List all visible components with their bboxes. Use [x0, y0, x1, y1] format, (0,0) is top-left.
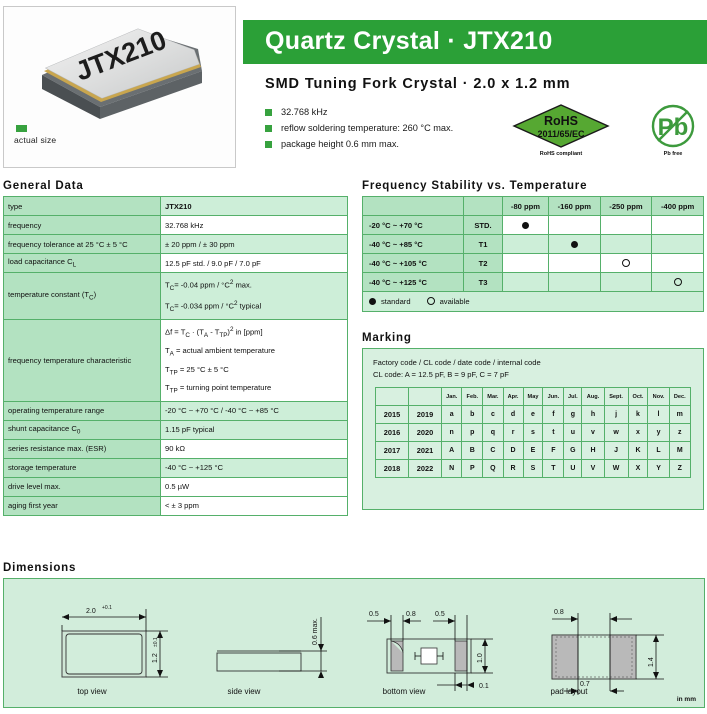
- marking-year: 2022: [409, 460, 442, 478]
- actual-size-label: actual size: [14, 135, 56, 145]
- general-data-key: frequency: [4, 216, 161, 235]
- marking-year: 2015: [376, 406, 409, 424]
- caption-bottom-view: bottom view: [344, 687, 464, 696]
- svg-text:1.0: 1.0: [477, 653, 484, 663]
- svg-text:0.5: 0.5: [369, 611, 379, 618]
- marking-code: h: [582, 406, 604, 424]
- marking-code: j: [604, 406, 628, 424]
- section-title-general-data: General Data: [3, 180, 84, 192]
- stability-code: STD.: [464, 216, 503, 235]
- marking-month-header: Oct.: [628, 388, 648, 406]
- marking-code: q: [483, 424, 503, 442]
- svg-text:2011/65/EC: 2011/65/EC: [537, 129, 585, 139]
- svg-text:0.6 max.: 0.6 max.: [312, 618, 319, 645]
- marking-code: y: [648, 424, 669, 442]
- stability-cell: [548, 254, 600, 273]
- marking-code: J: [604, 442, 628, 460]
- rohs-logo: RoHS 2011/65/EC RoHS compliant: [512, 103, 610, 165]
- pb-free-icon: Pb: [645, 103, 701, 149]
- table-row: series resistance max. (ESR)90 kΩ: [4, 439, 348, 458]
- section-title-stability: Frequency Stability vs. Temperature: [362, 180, 587, 192]
- general-data-value: -40 °C ~ +125 °C: [161, 458, 348, 477]
- marking-month-header: Jan.: [442, 388, 462, 406]
- mark-standard-dot: [571, 241, 578, 248]
- general-data-key: drive level max.: [4, 477, 161, 496]
- marking-year: 2021: [409, 442, 442, 460]
- table-row: storage temperature-40 °C ~ +125 °C: [4, 458, 348, 477]
- marking-code: w: [604, 424, 628, 442]
- marking-code: m: [669, 406, 690, 424]
- table-row: typeJTX210: [4, 197, 348, 216]
- marking-code: b: [462, 406, 483, 424]
- pb-free-caption: Pb free: [645, 151, 701, 157]
- general-data-value: 32.768 kHz: [161, 216, 348, 235]
- marking-code: u: [564, 424, 582, 442]
- table-header-row: -80 ppm-160 ppm-250 ppm-400 ppm: [363, 197, 704, 216]
- marking-code: G: [564, 442, 582, 460]
- stability-cell: [600, 254, 652, 273]
- stability-code: T1: [464, 235, 503, 254]
- marking-code: x: [628, 424, 648, 442]
- caption-side-view: side view: [184, 687, 304, 696]
- svg-text:±0.1: ±0.1: [153, 637, 159, 647]
- table-row: frequency tolerance at 25 °C ± 5 °C± 20 …: [4, 235, 348, 254]
- marking-code: D: [503, 442, 523, 460]
- svg-text:0.5: 0.5: [435, 611, 445, 618]
- general-data-key: aging first year: [4, 496, 161, 515]
- marking-code: d: [503, 406, 523, 424]
- marking-code: k: [628, 406, 648, 424]
- stability-corner: [363, 197, 464, 216]
- rohs-diamond-icon: RoHS 2011/65/EC: [512, 103, 610, 149]
- general-data-value: ± 20 ppm / ± 30 ppm: [161, 235, 348, 254]
- marking-code: R: [503, 460, 523, 478]
- svg-text:RoHS: RoHS: [544, 114, 578, 128]
- general-data-key: frequency tolerance at 25 °C ± 5 °C: [4, 235, 161, 254]
- legend-open-icon: [427, 297, 435, 305]
- marking-month-header: Jul.: [564, 388, 582, 406]
- general-data-table: typeJTX210frequency32.768 kHzfrequency t…: [3, 196, 348, 516]
- table-row: 20152019abcdefghjklm: [376, 406, 691, 424]
- page-subtitle: SMD Tuning Fork Crystal · 2.0 x 1.2 mm: [265, 76, 570, 92]
- unit-note: in mm: [677, 696, 696, 703]
- marking-code: z: [669, 424, 690, 442]
- stability-table: -80 ppm-160 ppm-250 ppm-400 ppm-20 °C ~ …: [362, 196, 704, 312]
- marking-code: B: [462, 442, 483, 460]
- marking-code: r: [503, 424, 523, 442]
- marking-code: t: [543, 424, 564, 442]
- table-row: operating temperature range-20 °C ~ +70 …: [4, 401, 348, 420]
- table-row: -40 °C ~ +85 °CT1: [363, 235, 704, 254]
- marking-code: s: [523, 424, 543, 442]
- stability-code: T3: [464, 273, 503, 292]
- stability-cell: [600, 273, 652, 292]
- general-data-key: type: [4, 197, 161, 216]
- svg-text:0.8: 0.8: [554, 609, 564, 616]
- general-data-value: JTX210: [161, 197, 348, 216]
- legend-item: available: [427, 297, 470, 306]
- stability-range: -40 °C ~ +85 °C: [363, 235, 464, 254]
- marking-month-header: Feb.: [462, 388, 483, 406]
- general-data-key: shunt capacitance C0: [4, 420, 161, 439]
- stability-cell: [652, 273, 704, 292]
- dimensions-box: 2.0 +0.1 1.2 ±0.1 top view 0.6 max. side…: [3, 578, 705, 708]
- table-row: -20 °C ~ +70 °CSTD.: [363, 216, 704, 235]
- list-item: reflow soldering temperature: 260 °C max…: [265, 120, 453, 136]
- svg-text:0.1: 0.1: [479, 683, 489, 690]
- marking-note-line2: CL code: A = 12.5 pF, B = 9 pF, C = 7 pF: [373, 369, 541, 381]
- marking-code: W: [604, 460, 628, 478]
- marking-month-header: Sept.: [604, 388, 628, 406]
- stability-cell: [652, 216, 704, 235]
- pb-free-logo: Pb Pb free: [645, 103, 701, 165]
- marking-code: Z: [669, 460, 690, 478]
- crystal-package-image: JTX210: [22, 19, 217, 119]
- table-row: 20162020npqrstuvwxyz: [376, 424, 691, 442]
- mark-available-dot: [674, 278, 682, 286]
- svg-text:2.0: 2.0: [86, 608, 96, 615]
- marking-code: F: [543, 442, 564, 460]
- general-data-value: < ± 3 ppm: [161, 496, 348, 515]
- section-title-marking: Marking: [362, 332, 412, 344]
- marking-month-header: Dec.: [669, 388, 690, 406]
- general-data-value: TC= -0.04 ppm / °C2 max.TC= -0.034 ppm /…: [161, 273, 348, 320]
- general-data-value: 0.5 µW: [161, 477, 348, 496]
- table-row: 20172021ABCDEFGHJKLM: [376, 442, 691, 460]
- caption-top-view: top view: [32, 687, 152, 696]
- general-data-key: storage temperature: [4, 458, 161, 477]
- legend-filled-icon: [369, 298, 376, 305]
- general-data-value: 1.15 pF typical: [161, 420, 348, 439]
- general-data-key: temperature constant (TC): [4, 273, 161, 320]
- title-bar: Quartz Crystal · JTX210: [243, 20, 707, 64]
- marking-code: L: [648, 442, 669, 460]
- marking-code: v: [582, 424, 604, 442]
- stability-code: T2: [464, 254, 503, 273]
- stability-cell: [503, 254, 549, 273]
- marking-year: 2016: [376, 424, 409, 442]
- general-data-key: frequency temperature characteristic: [4, 320, 161, 402]
- general-data-value: 90 kΩ: [161, 439, 348, 458]
- marking-corner: [376, 388, 409, 406]
- stability-column-header: -80 ppm: [503, 197, 549, 216]
- table-row: drive level max.0.5 µW: [4, 477, 348, 496]
- stability-cell: [600, 235, 652, 254]
- stability-cell: [652, 235, 704, 254]
- stability-column-header: -400 ppm: [652, 197, 704, 216]
- section-title-dimensions: Dimensions: [3, 562, 76, 574]
- table-row: 20182022NPQRSTUVWXYZ: [376, 460, 691, 478]
- marking-year: 2018: [376, 460, 409, 478]
- stability-range: -20 °C ~ +70 °C: [363, 216, 464, 235]
- marking-code: Y: [648, 460, 669, 478]
- table-row: shunt capacitance C01.15 pF typical: [4, 420, 348, 439]
- actual-size-swatch: [16, 125, 27, 132]
- stability-cell: [503, 216, 549, 235]
- table-row: frequency temperature characteristicΔf =…: [4, 320, 348, 402]
- svg-text:+0.1: +0.1: [102, 605, 112, 611]
- stability-cell: [548, 273, 600, 292]
- marking-year: 2019: [409, 406, 442, 424]
- marking-month-header: Nov.: [648, 388, 669, 406]
- marking-box: Factory code / CL code / date code / int…: [362, 348, 704, 510]
- header: JTX210 actual size Quartz Crystal · JTX2…: [0, 0, 707, 172]
- drawing-side-view: 0.6 max.: [199, 595, 349, 685]
- marking-month-header: Jun.: [543, 388, 564, 406]
- general-data-value: -20 °C ~ +70 °C / -40 °C ~ +85 °C: [161, 401, 348, 420]
- stability-cell: [600, 216, 652, 235]
- legend-label: standard: [381, 297, 411, 306]
- marking-code: l: [648, 406, 669, 424]
- marking-corner: [409, 388, 442, 406]
- general-data-key: load capacitance CL: [4, 254, 161, 273]
- stability-cell: [652, 254, 704, 273]
- date-code-table: Jan.Feb.Mar.Apr.MayJun.Jul.Aug.Sept.Oct.…: [375, 387, 691, 478]
- marking-month-header: Aug.: [582, 388, 604, 406]
- marking-code: A: [442, 442, 462, 460]
- caption-pad-layout: pad layout: [509, 687, 629, 696]
- table-row: aging first year< ± 3 ppm: [4, 496, 348, 515]
- marking-code: K: [628, 442, 648, 460]
- stability-legend-row: standardavailable: [363, 292, 704, 312]
- marking-code: p: [462, 424, 483, 442]
- marking-code: T: [543, 460, 564, 478]
- list-item: package height 0.6 mm max.: [265, 136, 453, 152]
- table-header-row: Jan.Feb.Mar.Apr.MayJun.Jul.Aug.Sept.Oct.…: [376, 388, 691, 406]
- marking-code: N: [442, 460, 462, 478]
- mark-available-dot: [622, 259, 630, 267]
- stability-range: -40 °C ~ +125 °C: [363, 273, 464, 292]
- marking-code: P: [462, 460, 483, 478]
- general-data-value: 12.5 pF std. / 9.0 pF / 7.0 pF: [161, 254, 348, 273]
- marking-code: c: [483, 406, 503, 424]
- stability-cell: [548, 235, 600, 254]
- drawing-top-view: 2.0 +0.1 1.2 ±0.1: [44, 595, 204, 685]
- legend-label: available: [440, 297, 470, 306]
- svg-text:0.8: 0.8: [406, 611, 416, 618]
- marking-code: n: [442, 424, 462, 442]
- stability-legend: standardavailable: [363, 292, 704, 312]
- page-title: Quartz Crystal · JTX210: [265, 27, 553, 56]
- stability-corner-code: [464, 197, 503, 216]
- general-data-value: Δf = TC · (TA - TTP)2 in [ppm]TA = actua…: [161, 320, 348, 402]
- table-row: frequency32.768 kHz: [4, 216, 348, 235]
- product-photo: JTX210 actual size: [3, 6, 236, 168]
- table-row: temperature constant (TC)TC= -0.04 ppm /…: [4, 273, 348, 320]
- table-row: -40 °C ~ +105 °CT2: [363, 254, 704, 273]
- stability-cell: [548, 216, 600, 235]
- datasheet-page: JTX210 actual size Quartz Crystal · JTX2…: [0, 0, 707, 714]
- table-row: -40 °C ~ +125 °CT3: [363, 273, 704, 292]
- marking-code: X: [628, 460, 648, 478]
- marking-code: V: [582, 460, 604, 478]
- general-data-key: series resistance max. (ESR): [4, 439, 161, 458]
- marking-code: C: [483, 442, 503, 460]
- marking-code: Q: [483, 460, 503, 478]
- marking-note-line1: Factory code / CL code / date code / int…: [373, 357, 541, 369]
- stability-column-header: -160 ppm: [548, 197, 600, 216]
- marking-month-header: Apr.: [503, 388, 523, 406]
- feature-list: 32.768 kHz reflow soldering temperature:…: [265, 104, 453, 152]
- list-item: 32.768 kHz: [265, 104, 453, 120]
- svg-text:1.2: 1.2: [152, 653, 159, 663]
- stability-cell: [503, 235, 549, 254]
- marking-code: H: [582, 442, 604, 460]
- marking-year: 2020: [409, 424, 442, 442]
- svg-text:1.4: 1.4: [648, 657, 655, 667]
- marking-month-header: May: [523, 388, 543, 406]
- marking-note: Factory code / CL code / date code / int…: [373, 357, 541, 381]
- mark-standard-dot: [522, 222, 529, 229]
- marking-month-header: Mar.: [483, 388, 503, 406]
- marking-code: a: [442, 406, 462, 424]
- marking-code: S: [523, 460, 543, 478]
- marking-code: e: [523, 406, 543, 424]
- marking-code: E: [523, 442, 543, 460]
- marking-year: 2017: [376, 442, 409, 460]
- marking-code: U: [564, 460, 582, 478]
- rohs-caption: RoHS compliant: [512, 151, 610, 157]
- stability-range: -40 °C ~ +105 °C: [363, 254, 464, 273]
- stability-column-header: -250 ppm: [600, 197, 652, 216]
- general-data-key: operating temperature range: [4, 401, 161, 420]
- legend-item: standard: [369, 297, 411, 306]
- marking-code: f: [543, 406, 564, 424]
- marking-code: M: [669, 442, 690, 460]
- table-row: load capacitance CL12.5 pF std. / 9.0 pF…: [4, 254, 348, 273]
- stability-cell: [503, 273, 549, 292]
- marking-code: g: [564, 406, 582, 424]
